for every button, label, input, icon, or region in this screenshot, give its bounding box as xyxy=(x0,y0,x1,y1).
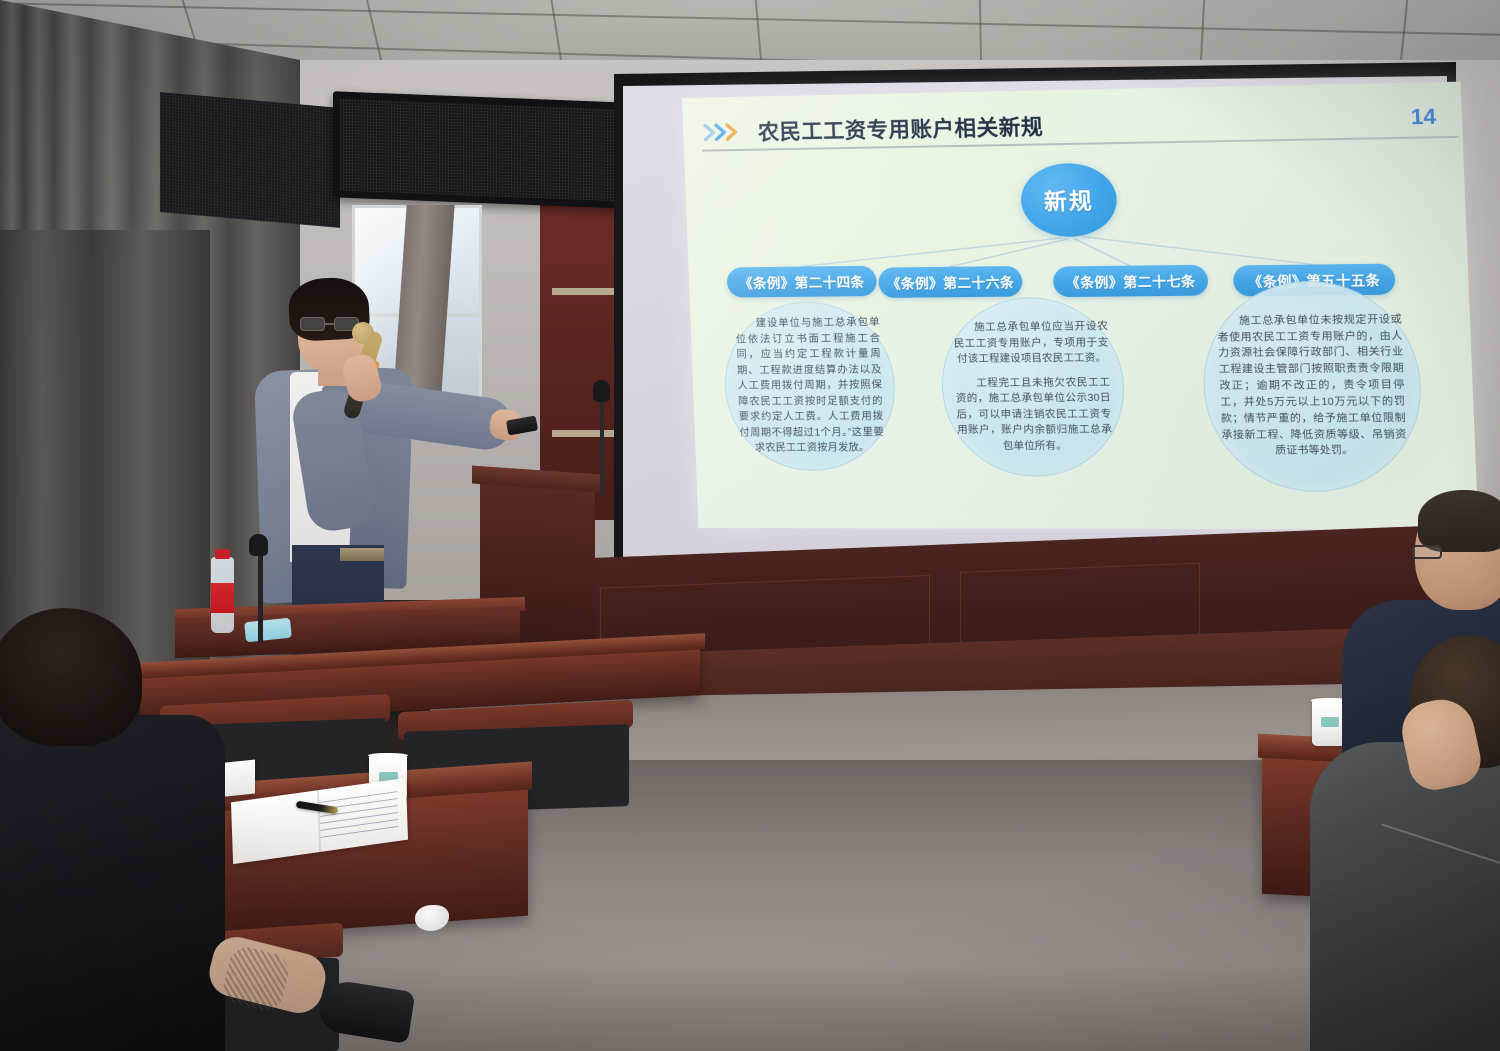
bubble-3-paragraph-1: 施工总承包单位未按规定开设或者使用农民工工资专用账户的，由人力资源社会保障行政部… xyxy=(1217,312,1408,460)
bubble-2-paragraph-2: 工程完工且未拖欠农民工工资的，施工总承包单位公示30日后，可以申请注销农民工工资… xyxy=(955,375,1113,455)
led-display-panel xyxy=(333,91,629,208)
branch-pill-3[interactable]: 《条例》第二十七条 xyxy=(1053,265,1209,297)
branch-pill-2[interactable]: 《条例》第二十六条 xyxy=(878,266,1023,298)
bottle-label xyxy=(211,583,234,613)
branch-pill-1[interactable]: 《条例》第二十四条 xyxy=(727,266,878,298)
root-node-label: 新规 xyxy=(1043,183,1094,216)
content-bubble-3-text: 施工总承包单位未按规定开设或者使用农民工工资专用账户的，由人力资源社会保障行政部… xyxy=(1217,312,1408,460)
floor-microphone-stand-2 xyxy=(258,548,263,643)
triple-chevron-icon xyxy=(703,122,744,143)
content-bubble-1: 建设单位与施工总承包单位依法订立书面工程施工合同，应当约定工程款计量周期、工程款… xyxy=(722,301,898,471)
water-bottle xyxy=(211,557,234,633)
projected-slide: 农民工工资专用账户相关新规 14 新规 《条例》第二十四条 《条例》第二十六条 … xyxy=(682,82,1478,530)
slide-page-number: 14 xyxy=(1410,105,1436,130)
slide-header: 农民工工资专用账户相关新规 14 xyxy=(703,103,1444,166)
bubble-1-paragraph-1: 建设单位与施工总承包单位依法订立书面工程施工合同，应当约定工程款计量周期、工程款… xyxy=(735,315,885,456)
mindmap-root-node[interactable]: 新规 xyxy=(1020,163,1118,238)
branch-pill-3-label: 《条例》第二十七条 xyxy=(1065,270,1196,292)
microphone-head xyxy=(352,322,374,344)
floor-microphone-stand xyxy=(600,392,604,497)
led-display-panel-left xyxy=(160,92,340,228)
bubble-2-paragraph-1: 施工总承包单位应当开设农民工工资专用账户，专项用于支付该工程建设项目农民工工资。 xyxy=(953,319,1110,368)
attendee-woman-blazer xyxy=(0,715,225,1051)
attendee-man-navy-hair xyxy=(1418,490,1500,552)
content-bubble-1-text: 建设单位与施工总承包单位依法订立书面工程施工合同，应当约定工程款计量周期、工程款… xyxy=(735,315,885,456)
presenter-belt xyxy=(340,548,384,561)
attendee-man-gray-jacket xyxy=(1310,742,1500,1051)
bottle-cap xyxy=(215,549,230,559)
branch-pill-2-label: 《条例》第二十六条 xyxy=(886,271,1014,293)
content-bubble-3: 施工总承包单位未按规定开设或者使用农民工工资专用账户的，由人力资源社会保障行政部… xyxy=(1200,280,1425,492)
branch-pill-1-label: 《条例》第二十四条 xyxy=(739,271,865,293)
floor-microphone-head-2 xyxy=(249,534,268,556)
slide-title: 农民工工资专用账户相关新规 xyxy=(757,111,1043,147)
floor-microphone-head xyxy=(593,380,610,402)
content-bubble-2-text: 施工总承包单位应当开设农民工工资专用账户，专项用于支付该工程建设项目农民工工资。… xyxy=(953,319,1113,454)
content-bubble-2: 施工总承包单位应当开设农民工工资专用账户，专项用于支付该工程建设项目农民工工资。… xyxy=(938,296,1127,476)
eyeglasses-icon-attendee xyxy=(1412,545,1442,559)
conference-room-scene: 农民工工资专用账户相关新规 14 新规 《条例》第二十四条 《条例》第二十六条 … xyxy=(0,0,1500,1051)
